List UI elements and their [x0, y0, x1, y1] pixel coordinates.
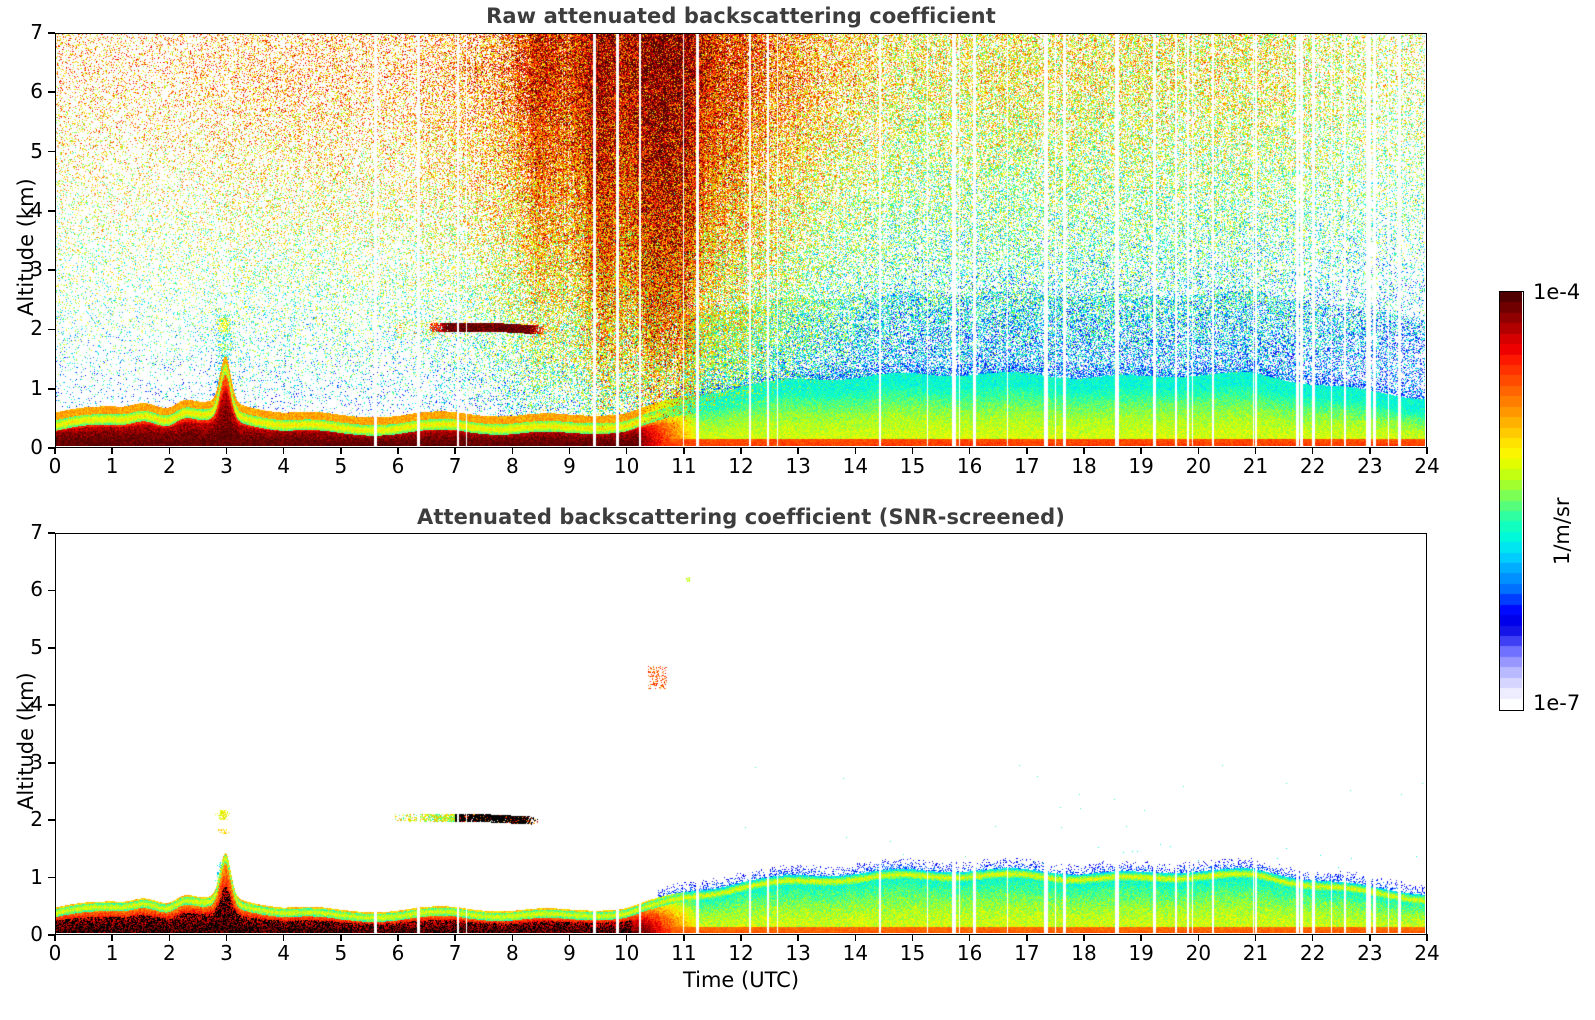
x-tick-screened-1	[111, 934, 113, 941]
figure-canvas: Raw attenuated backscattering coefficien…	[0, 0, 1595, 1020]
x-tick-label-screened-9: 9	[540, 941, 600, 965]
y-tick-label-screened-0: 0	[3, 922, 43, 946]
x-tick-label-screened-1: 1	[82, 941, 142, 965]
x-tick-screened-24	[1426, 934, 1428, 941]
x-tick-screened-16	[969, 934, 971, 941]
x-tick-label-screened-23: 23	[1340, 941, 1400, 965]
y-tick-label-raw-1: 1	[3, 376, 43, 400]
x-tick-screened-11	[683, 934, 685, 941]
x-tick-raw-19	[1140, 447, 1142, 454]
x-tick-label-raw-8: 8	[482, 454, 542, 478]
x-tick-raw-14	[855, 447, 857, 454]
y-tick-screened-5	[48, 647, 55, 649]
plot-area-screened[interactable]	[55, 533, 1427, 935]
y-tick-label-raw-4: 4	[3, 198, 43, 222]
x-tick-label-raw-11: 11	[654, 454, 714, 478]
y-tick-raw-7	[48, 32, 55, 34]
y-tick-label-screened-1: 1	[3, 865, 43, 889]
x-tick-raw-24	[1426, 447, 1428, 454]
x-tick-label-raw-19: 19	[1111, 454, 1171, 478]
x-tick-label-raw-7: 7	[425, 454, 485, 478]
x-tick-screened-3	[226, 934, 228, 941]
x-tick-label-raw-20: 20	[1168, 454, 1228, 478]
y-tick-label-raw-3: 3	[3, 257, 43, 281]
x-tick-label-raw-10: 10	[597, 454, 657, 478]
x-tick-label-raw-17: 17	[997, 454, 1057, 478]
x-tick-raw-7	[454, 447, 456, 454]
heatmap-raw	[56, 34, 1425, 446]
x-tick-raw-9	[569, 447, 571, 454]
y-tick-raw-6	[48, 91, 55, 93]
colorbar-title: 1/m/sr	[1550, 497, 1574, 565]
x-tick-raw-1	[111, 447, 113, 454]
x-tick-screened-5	[340, 934, 342, 941]
x-tick-raw-16	[969, 447, 971, 454]
x-tick-screened-9	[569, 934, 571, 941]
x-tick-screened-19	[1140, 934, 1142, 941]
x-tick-raw-12	[740, 447, 742, 454]
colorbar-max-label: 1e-4	[1533, 280, 1580, 304]
y-tick-screened-3	[48, 762, 55, 764]
x-tick-screened-21	[1255, 934, 1257, 941]
panel-title-raw: Raw attenuated backscattering coefficien…	[55, 4, 1427, 28]
x-tick-label-raw-2: 2	[139, 454, 199, 478]
y-tick-raw-3	[48, 269, 55, 271]
x-tick-label-raw-5: 5	[311, 454, 371, 478]
x-tick-screened-7	[454, 934, 456, 941]
x-tick-label-raw-3: 3	[197, 454, 257, 478]
x-tick-screened-15	[912, 934, 914, 941]
y-tick-screened-2	[48, 819, 55, 821]
x-tick-screened-14	[855, 934, 857, 941]
x-tick-label-raw-14: 14	[825, 454, 885, 478]
x-tick-label-raw-1: 1	[82, 454, 142, 478]
x-tick-label-screened-13: 13	[768, 941, 828, 965]
x-tick-raw-13	[797, 447, 799, 454]
x-tick-label-raw-13: 13	[768, 454, 828, 478]
x-tick-raw-6	[397, 447, 399, 454]
x-tick-screened-13	[797, 934, 799, 941]
y-tick-label-raw-0: 0	[3, 435, 43, 459]
x-tick-raw-10	[626, 447, 628, 454]
x-tick-raw-15	[912, 447, 914, 454]
x-tick-label-raw-4: 4	[254, 454, 314, 478]
x-tick-raw-3	[226, 447, 228, 454]
y-tick-label-screened-3: 3	[3, 750, 43, 774]
y-tick-label-screened-5: 5	[3, 635, 43, 659]
y-tick-label-raw-5: 5	[3, 139, 43, 163]
colorbar[interactable]	[1499, 291, 1524, 711]
y-tick-label-screened-4: 4	[3, 692, 43, 716]
x-tick-raw-17	[1026, 447, 1028, 454]
colorbar-gradient	[1500, 292, 1522, 709]
y-tick-raw-4	[48, 210, 55, 212]
x-tick-label-screened-7: 7	[425, 941, 485, 965]
y-tick-screened-7	[48, 532, 55, 534]
x-tick-screened-2	[169, 934, 171, 941]
y-tick-raw-5	[48, 151, 55, 153]
x-tick-screened-10	[626, 934, 628, 941]
y-tick-label-raw-7: 7	[3, 20, 43, 44]
y-tick-screened-0	[48, 934, 55, 936]
x-tick-label-raw-6: 6	[368, 454, 428, 478]
x-tick-raw-20	[1198, 447, 1200, 454]
x-tick-label-screened-2: 2	[139, 941, 199, 965]
x-tick-raw-22	[1312, 447, 1314, 454]
x-tick-label-screened-16: 16	[940, 941, 1000, 965]
x-tick-screened-4	[283, 934, 285, 941]
x-tick-screened-22	[1312, 934, 1314, 941]
x-tick-label-screened-4: 4	[254, 941, 314, 965]
x-tick-label-screened-20: 20	[1168, 941, 1228, 965]
x-tick-label-raw-23: 23	[1340, 454, 1400, 478]
x-tick-label-screened-15: 15	[883, 941, 943, 965]
y-tick-label-raw-6: 6	[3, 79, 43, 103]
x-tick-label-raw-21: 21	[1226, 454, 1286, 478]
x-tick-raw-5	[340, 447, 342, 454]
x-tick-label-raw-16: 16	[940, 454, 1000, 478]
plot-area-raw[interactable]	[55, 33, 1427, 448]
x-tick-label-screened-8: 8	[482, 941, 542, 965]
x-tick-raw-11	[683, 447, 685, 454]
y-tick-screened-6	[48, 590, 55, 592]
x-tick-label-screened-11: 11	[654, 941, 714, 965]
x-tick-label-raw-15: 15	[883, 454, 943, 478]
x-tick-label-raw-9: 9	[540, 454, 600, 478]
x-tick-label-screened-14: 14	[825, 941, 885, 965]
y-tick-screened-4	[48, 704, 55, 706]
x-tick-screened-18	[1083, 934, 1085, 941]
x-tick-label-raw-12: 12	[711, 454, 771, 478]
x-tick-screened-23	[1369, 934, 1371, 941]
y-tick-raw-0	[48, 447, 55, 449]
x-tick-screened-6	[397, 934, 399, 941]
x-tick-label-screened-3: 3	[197, 941, 257, 965]
x-tick-label-raw-22: 22	[1283, 454, 1343, 478]
x-tick-raw-2	[169, 447, 171, 454]
heatmap-screened	[56, 534, 1425, 933]
panel-title-screened: Attenuated backscattering coefficient (S…	[55, 505, 1427, 529]
y-tick-raw-2	[48, 329, 55, 331]
x-tick-raw-4	[283, 447, 285, 454]
x-tick-screened-12	[740, 934, 742, 941]
x-tick-label-screened-18: 18	[1054, 941, 1114, 965]
y-tick-label-raw-2: 2	[3, 316, 43, 340]
x-axis-title-screened: Time (UTC)	[0, 968, 1482, 992]
x-tick-label-screened-6: 6	[368, 941, 428, 965]
x-tick-label-screened-5: 5	[311, 941, 371, 965]
x-tick-screened-20	[1198, 934, 1200, 941]
x-tick-label-raw-24: 24	[1397, 454, 1457, 478]
y-tick-label-screened-7: 7	[3, 520, 43, 544]
x-tick-label-raw-18: 18	[1054, 454, 1114, 478]
x-tick-label-screened-21: 21	[1226, 941, 1286, 965]
x-tick-label-screened-10: 10	[597, 941, 657, 965]
colorbar-min-label: 1e-7	[1533, 691, 1580, 715]
y-tick-screened-1	[48, 877, 55, 879]
x-tick-label-screened-22: 22	[1283, 941, 1343, 965]
x-tick-label-screened-17: 17	[997, 941, 1057, 965]
x-tick-screened-17	[1026, 934, 1028, 941]
y-tick-label-screened-2: 2	[3, 807, 43, 831]
x-tick-label-screened-24: 24	[1397, 941, 1457, 965]
x-tick-screened-8	[512, 934, 514, 941]
x-tick-label-screened-12: 12	[711, 941, 771, 965]
x-tick-label-screened-19: 19	[1111, 941, 1171, 965]
x-tick-raw-8	[512, 447, 514, 454]
y-tick-raw-1	[48, 388, 55, 390]
x-tick-raw-18	[1083, 447, 1085, 454]
x-tick-raw-21	[1255, 447, 1257, 454]
y-tick-label-screened-6: 6	[3, 577, 43, 601]
x-tick-raw-23	[1369, 447, 1371, 454]
